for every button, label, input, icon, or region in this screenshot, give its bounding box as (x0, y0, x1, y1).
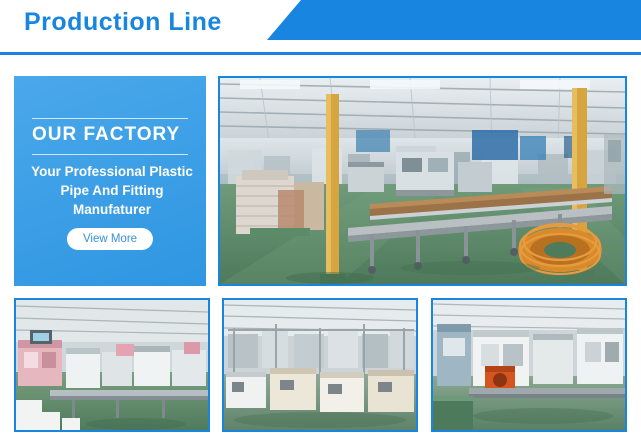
thumb-extrusion-line-illustration (16, 300, 208, 430)
card-subtitle: Your Professional Plastic Pipe And Fitti… (24, 162, 200, 219)
card-rule-top (32, 118, 188, 119)
thumb-machine-row-illustration (224, 300, 416, 430)
card-title: OUR FACTORY (32, 124, 180, 146)
header-accent-bar (301, 0, 641, 40)
hero-photo-illustration (220, 78, 625, 284)
thumb-extrusion-line[interactable] (14, 298, 210, 432)
hero-photo (218, 76, 627, 286)
thumb-injection-molding-illustration (433, 300, 625, 430)
thumb-injection-molding[interactable] (431, 298, 627, 432)
thumb-machine-row[interactable] (222, 298, 418, 432)
card-rule-bottom (32, 154, 188, 155)
page-title: Production Line (24, 8, 222, 37)
header-divider-rule (0, 52, 641, 55)
main-content: OUR FACTORY Your Professional Plastic Pi… (14, 76, 627, 286)
page-header: Production Line (0, 0, 641, 56)
view-more-button[interactable]: View More (67, 228, 153, 250)
thumbnail-row (14, 298, 627, 432)
our-factory-card: OUR FACTORY Your Professional Plastic Pi… (14, 76, 206, 286)
header-accent-slant (267, 0, 301, 40)
